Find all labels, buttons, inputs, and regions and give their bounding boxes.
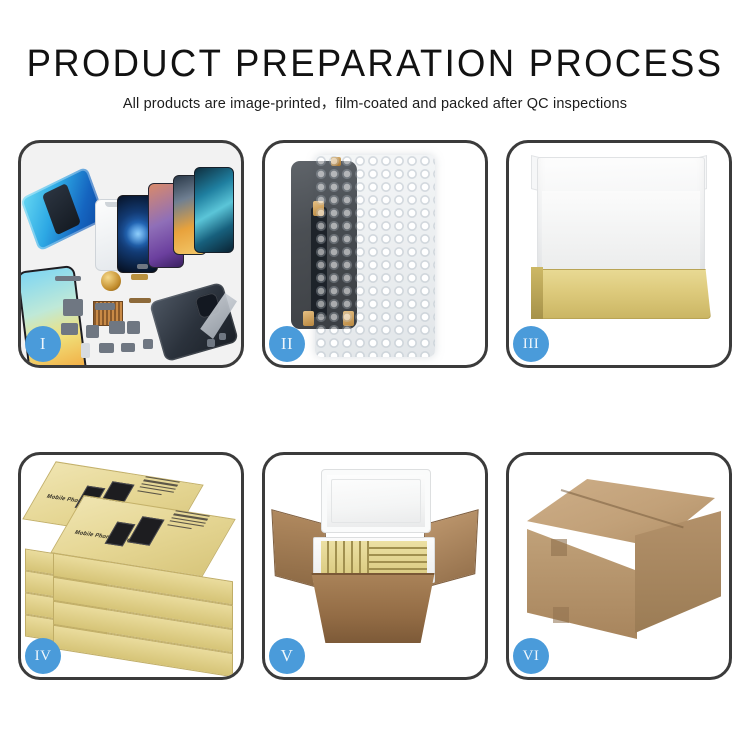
adhesive-tab-icon [313, 201, 324, 216]
process-step-panel-1[interactable]: I [18, 140, 244, 368]
carton-front-face-icon [527, 529, 637, 639]
kraft-box-base-icon [531, 269, 711, 319]
process-step-panel-3[interactable]: III [506, 140, 732, 368]
carton-tape-patch-icon [553, 607, 569, 623]
page-title: PRODUCT PREPARATION PROCESS [15, 0, 735, 86]
carton-body-icon [303, 573, 443, 643]
adhesive-tab-icon [343, 311, 354, 326]
step-badge-5: V [269, 638, 305, 674]
blue-protective-film-icon [21, 166, 106, 251]
carton-tape-patch-icon [551, 539, 567, 556]
adhesive-tab-icon [331, 157, 341, 166]
step-badge-2: II [269, 326, 305, 362]
step-badge-1: I [25, 326, 61, 362]
process-step-panel-2[interactable]: II [262, 140, 488, 368]
step-badge-6: VI [513, 638, 549, 674]
flex-cable-icon [311, 207, 327, 317]
step-badge-4: IV [25, 638, 61, 674]
process-step-grid: I II [18, 140, 732, 680]
step-badge-3: III [513, 326, 549, 362]
product-preparation-infographic: PRODUCT PREPARATION PROCESS All products… [0, 0, 750, 750]
speaker-module-icon [101, 271, 121, 291]
process-step-panel-5[interactable]: V [262, 452, 488, 680]
page-subtitle: All products are image-printed，film-coat… [0, 86, 750, 113]
process-step-panel-6[interactable]: VI [506, 452, 732, 680]
header: PRODUCT PREPARATION PROCESS All products… [0, 0, 750, 113]
process-step-panel-4[interactable]: Mobile Phone Spare Parts Mobile Phone Sp… [18, 452, 244, 680]
foam-lid-icon [321, 469, 431, 533]
phone-display-teal-icon [194, 167, 234, 253]
kraft-box-side-icon [531, 267, 543, 319]
foam-liner-icon [542, 191, 700, 269]
adhesive-tab-icon [303, 311, 314, 326]
